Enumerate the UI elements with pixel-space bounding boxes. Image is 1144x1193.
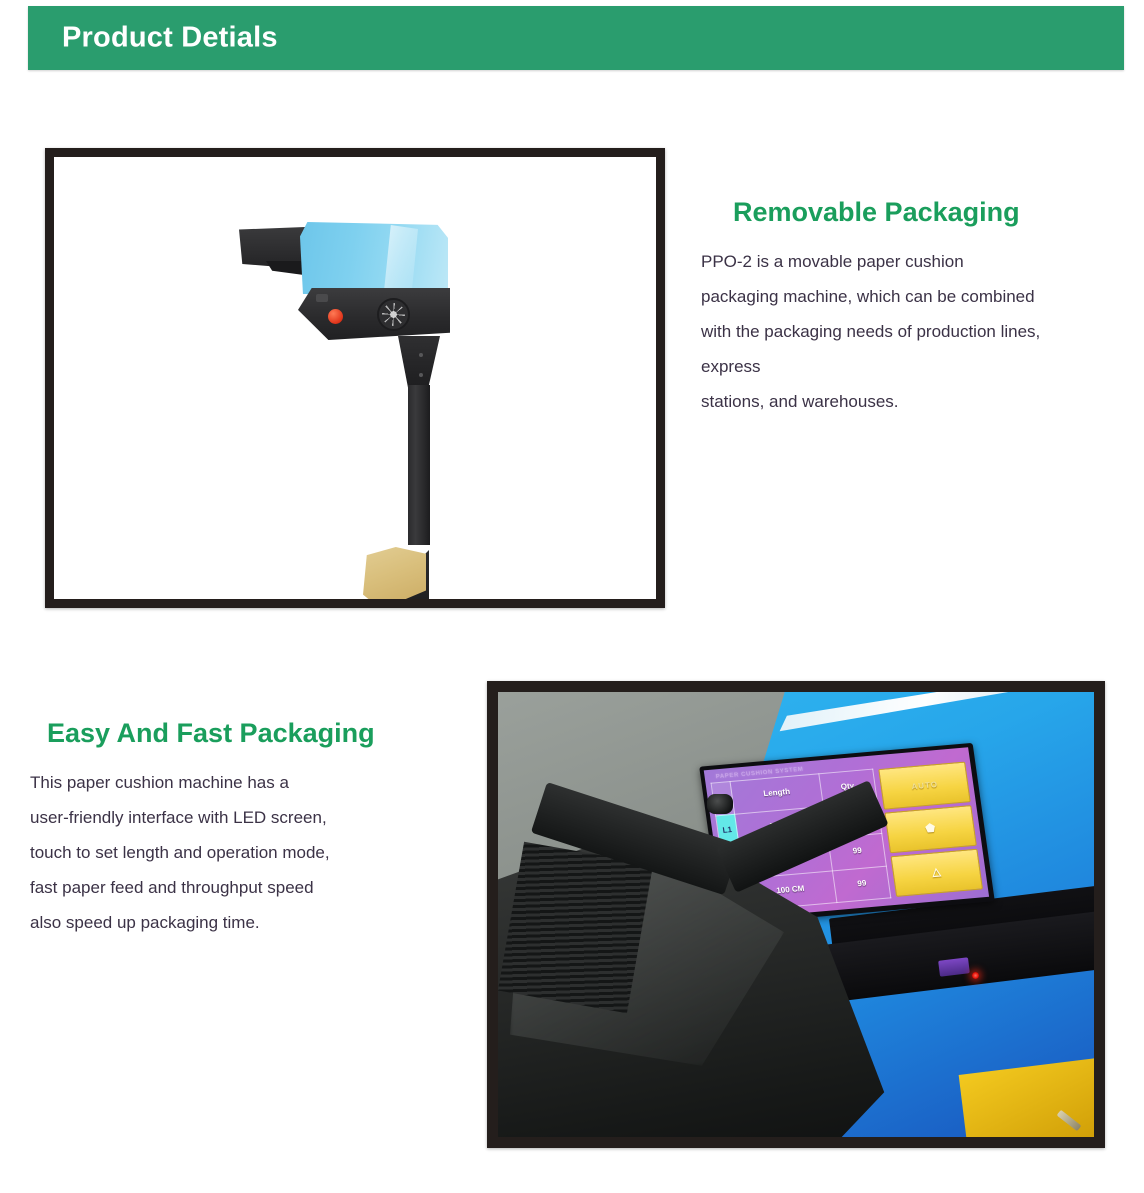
paragraph-line: fast paper feed and throughput speed [30,870,460,905]
qty-value-l3[interactable]: 99 [832,866,890,903]
paper-cushion-upper [363,547,426,599]
machine-bolt [419,373,423,377]
led-panel-photo-scene: PAPER CUSHION SYSTEM Length Qty. L1 25 C… [498,692,1094,1137]
machine-blue-housing [300,222,448,294]
paragraph-line: also speed up packaging time. [30,905,460,940]
machine-bolt [419,353,423,357]
paragraph-line: PPO-2 is a movable paper cushion [701,244,1121,279]
page-title: Product Detials [62,22,278,55]
product-details-header-bar: Product Detials [28,6,1124,70]
paragraph-line: This paper cushion machine has a [30,765,460,800]
product-photo-led-panel: PAPER CUSHION SYSTEM Length Qty. L1 25 C… [498,692,1094,1137]
product-photo-machine [54,157,656,599]
paragraph-line: packaging machine, which can be combined [701,279,1121,314]
paragraph-line: user-friendly interface with LED screen, [30,800,460,835]
auto-mode-button[interactable]: AUTO [878,762,970,810]
section-heading-removable-packaging: Removable Packaging [733,197,1121,228]
paragraph-line: stations, and warehouses. [701,384,1121,419]
machine-cooling-fan [377,298,410,331]
machine-port [316,294,328,302]
paragraph-line: touch to set length and operation mode, [30,835,460,870]
play-forward-button[interactable]: △ [891,849,983,897]
section-removable-packaging: Removable Packaging PPO-2 is a movable p… [701,197,1121,419]
machine-neck-bracket [398,336,440,388]
product-photo-frame-machine [45,148,665,608]
bag-frame-joint [707,794,733,814]
section-heading-easy-and-fast-packaging: Easy And Fast Packaging [47,718,460,749]
pentagon-icon: ⬟ [924,824,936,836]
manual-feed-button[interactable]: ⬟ [884,805,976,853]
paragraph-line: express [701,349,1121,384]
led-screen-button-column: AUTO ⬟ △ [878,761,983,898]
triangle-up-icon: △ [931,867,942,879]
machine-support-column [408,385,430,545]
product-photo-frame-led-panel: PAPER CUSHION SYSTEM Length Qty. L1 25 C… [487,681,1105,1148]
machine-illustration [54,157,656,599]
bag-rim [498,842,653,1014]
machine-emergency-stop-button [328,309,343,324]
section-easy-and-fast-packaging: Easy And Fast Packaging This paper cushi… [30,718,460,940]
section-paragraph-easy-and-fast-packaging: This paper cushion machine has a user-fr… [30,765,460,940]
paragraph-line: with the packaging needs of production l… [701,314,1121,349]
section-paragraph-removable-packaging: PPO-2 is a movable paper cushion packagi… [701,244,1121,419]
